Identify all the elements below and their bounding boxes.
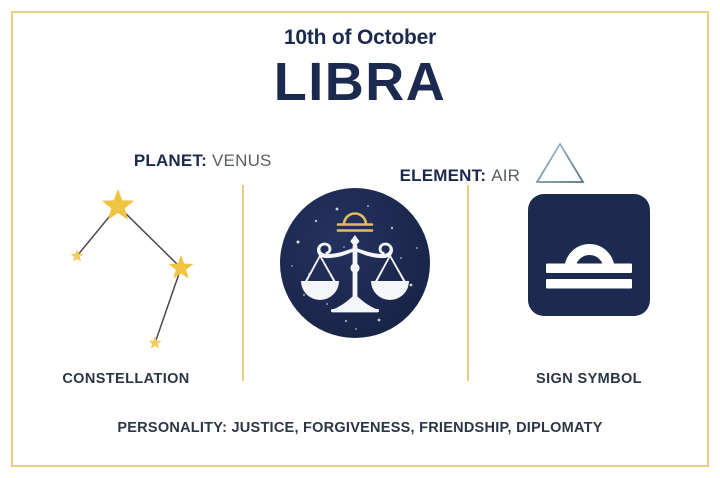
- alpha-star-icon: [102, 189, 134, 220]
- sign-title: LIBRA: [0, 52, 720, 112]
- planet-key-label: PLANET:: [134, 151, 207, 171]
- libra-glyph-icon: [543, 213, 635, 297]
- scales-artwork: [280, 188, 430, 338]
- libra-zodiac-card: 10th of October LIBRA PLANET: VENUS ELEM…: [0, 0, 720, 478]
- element-attribute: ELEMENT: AIR: [400, 135, 587, 186]
- sign-symbol-tile: [528, 194, 650, 316]
- delta-star-icon: [148, 336, 161, 349]
- column-badge: [246, 182, 464, 382]
- constellation-stars-icon: [12, 182, 240, 358]
- attributes-row: PLANET: VENUS ELEMENT: AIR: [0, 135, 720, 186]
- air-triangle-icon: [534, 140, 586, 186]
- libra-scales-badge-icon: [280, 188, 430, 338]
- sign-symbol-label: SIGN SYMBOL: [470, 371, 708, 387]
- constellation-star-group: [70, 189, 193, 349]
- scales-glyph: [301, 235, 409, 312]
- constellation-lines: [77, 206, 181, 343]
- personality-line: PERSONALITY: JUSTICE, FORGIVENESS, FRIEN…: [0, 420, 720, 436]
- card-header: 10th of October LIBRA: [0, 26, 720, 113]
- date-label: 10th of October: [0, 26, 720, 50]
- badge-gold-libra-glyph: [338, 214, 372, 231]
- planet-attribute: PLANET: VENUS: [134, 151, 272, 171]
- column-divider-right: [467, 185, 469, 381]
- column-constellation: CONSTELLATION: [12, 182, 240, 382]
- column-divider-left: [242, 185, 244, 381]
- column-sign-symbol: SIGN SYMBOL: [470, 182, 708, 382]
- planet-value-label: VENUS: [212, 151, 272, 171]
- columns-section: CONSTELLATION: [0, 182, 720, 382]
- constellation-label: CONSTELLATION: [12, 371, 240, 387]
